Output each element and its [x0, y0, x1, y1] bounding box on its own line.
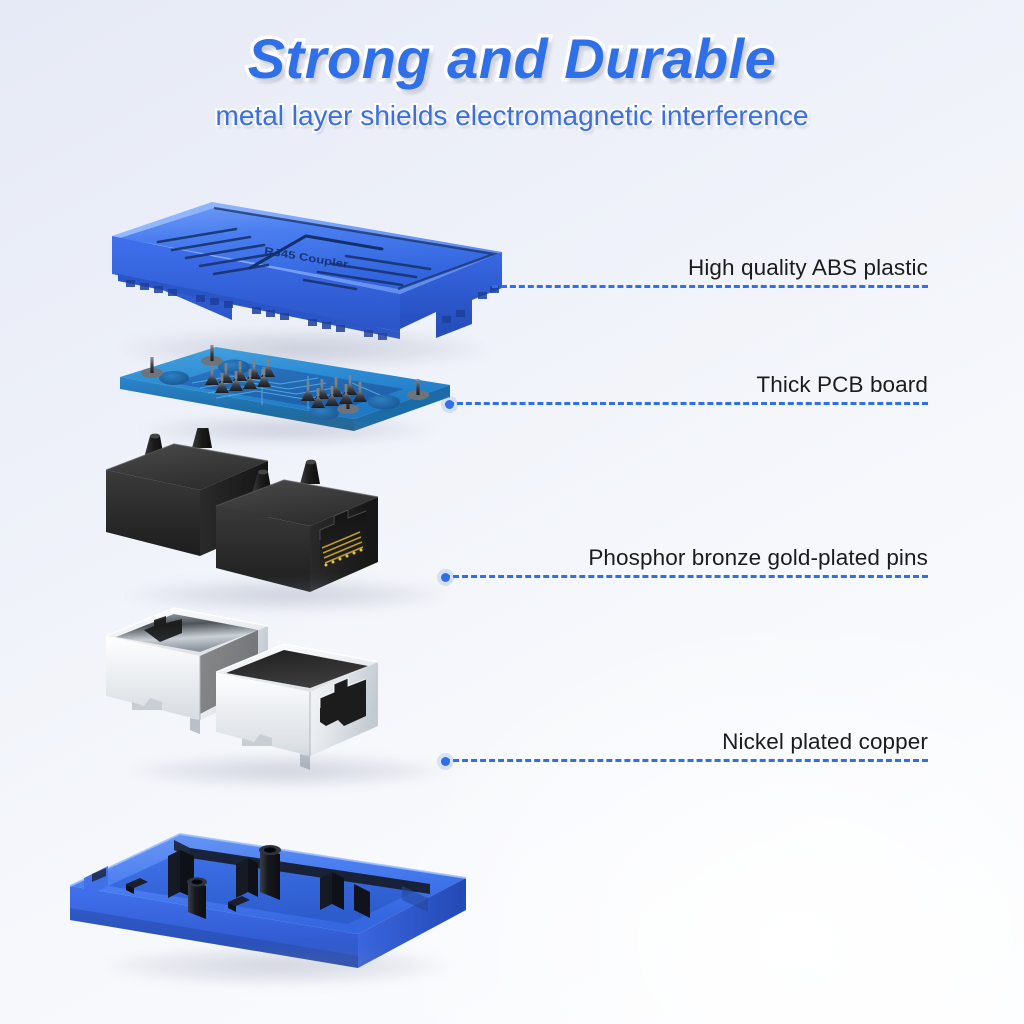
callout-label-3: Nickel plated copper [722, 729, 928, 755]
metal-shield-right [216, 644, 378, 770]
callout-line-0 [492, 285, 928, 288]
callout-dot-2 [441, 573, 450, 582]
part-top-cover: RJ45 Coupler [100, 196, 520, 361]
callout-nickel-plated-copper: Nickel plated copper [444, 726, 928, 762]
callout-phosphor-bronze-gold-plated-pins: Phosphor bronze gold-plated pins [444, 542, 928, 578]
callout-thick-pcb-board: Thick PCB board [448, 369, 928, 405]
part-bottom-housing [62, 800, 482, 985]
callout-label-1: Thick PCB board [756, 372, 928, 398]
screw-boss-rear [259, 845, 281, 900]
exploded-product-diagram: RJ45 Coupler [0, 0, 1024, 1024]
part-metal-shields [104, 598, 470, 793]
callout-line-2 [444, 575, 928, 578]
part-rj45-housings [104, 428, 470, 618]
callout-label-0: High quality ABS plastic [688, 255, 928, 281]
callout-dot-3 [441, 757, 450, 766]
screw-boss-front [187, 877, 207, 919]
callout-line-1 [448, 402, 928, 405]
callout-high-quality-abs-plastic: High quality ABS plastic [492, 252, 928, 288]
callout-dot-1 [445, 400, 454, 409]
callout-line-3 [444, 759, 928, 762]
callout-label-2: Phosphor bronze gold-plated pins [588, 545, 928, 571]
